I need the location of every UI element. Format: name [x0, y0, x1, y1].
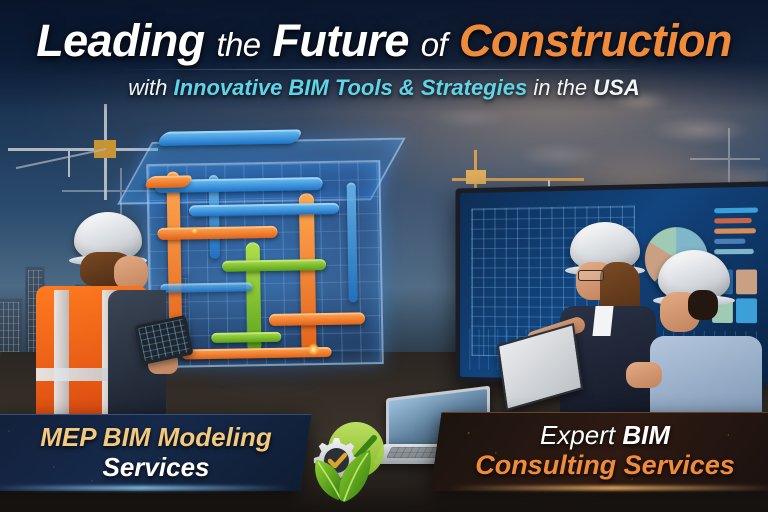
subtitle-word-inthe: in the	[533, 75, 587, 100]
page-title: Leading the Future of Construction	[0, 16, 768, 70]
subtitle-word-with: with	[128, 75, 167, 100]
title-word-the: the	[216, 26, 260, 63]
title-word-of: of	[421, 26, 447, 63]
banner-right-line1: Expert BIM	[540, 421, 670, 450]
subtitle-word-usa: USA	[593, 75, 639, 100]
banner-right-line2: Consulting Services	[475, 450, 735, 481]
title-word-future: Future	[272, 15, 408, 66]
eco-gear-badge	[278, 408, 396, 504]
title-word-leading: Leading	[36, 15, 204, 66]
banner-right-text: Expert BIM Consulting Services	[450, 412, 760, 490]
subtitle-highlight: Innovative BIM Tools & Strategies	[174, 75, 528, 100]
worker-with-tablet	[10, 212, 190, 412]
title-divider	[118, 69, 650, 70]
title-word-construction: Construction	[459, 15, 732, 66]
banner-left-text: MEP BIM Modeling Services	[16, 414, 296, 490]
banner-right-bim: BIM	[622, 420, 670, 450]
engineer-listening	[648, 250, 768, 420]
page-subtitle: with Innovative BIM Tools & Strategies i…	[0, 74, 768, 102]
banner-left-line2: Services	[103, 452, 210, 482]
eyeglasses-icon	[578, 270, 604, 281]
hero-banner: Leading the Future of Construction with …	[0, 0, 768, 512]
banner-left-line1: MEP BIM Modeling	[40, 423, 272, 452]
banner-right-expert: Expert	[540, 420, 622, 450]
